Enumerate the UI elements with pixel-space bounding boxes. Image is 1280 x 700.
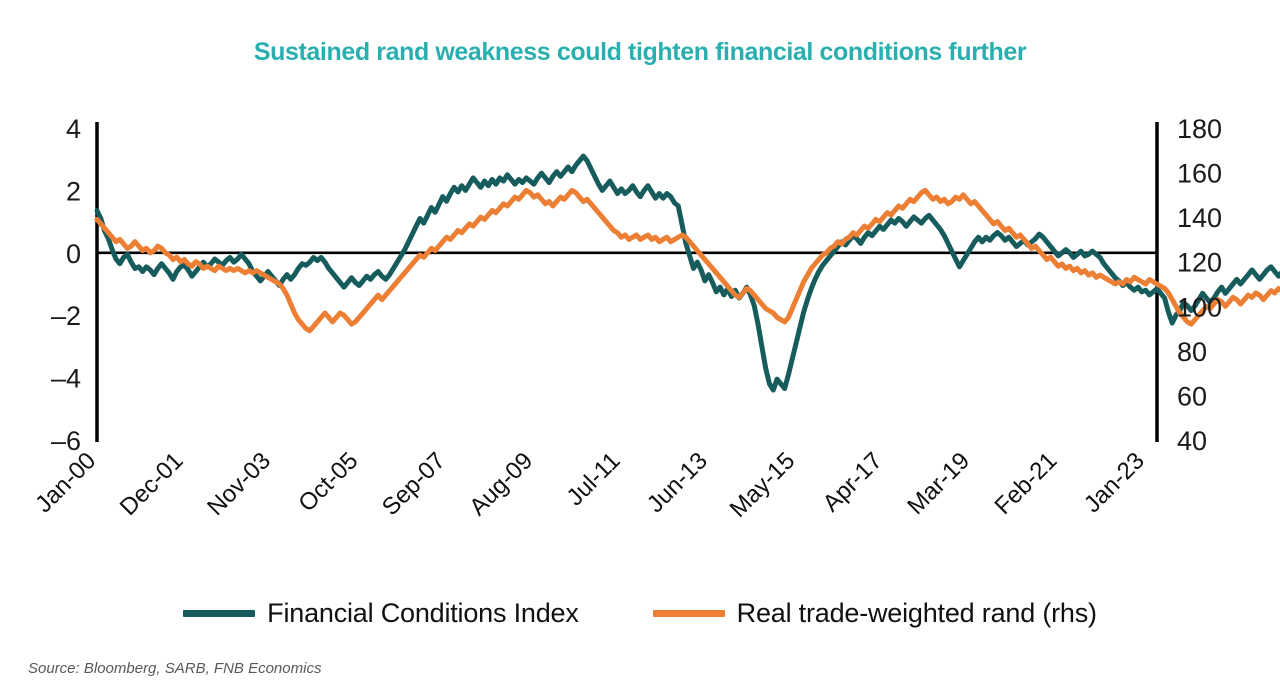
left-tick-neg2: –2 — [51, 301, 81, 331]
right-tick-140: 140 — [1177, 203, 1222, 233]
xtick-mar-19: Mar-19 — [902, 447, 975, 520]
chart-container: Sustained rand weakness could tighten fi… — [0, 0, 1280, 700]
left-axis-tick-labels: 420–2–4–6 — [51, 114, 81, 456]
right-tick-80: 80 — [1177, 337, 1207, 367]
xtick-jun-13: Jun-13 — [642, 447, 713, 518]
right-tick-40: 40 — [1177, 426, 1207, 456]
right-tick-60: 60 — [1177, 381, 1207, 411]
xtick-jan-23: Jan-23 — [1079, 447, 1150, 518]
right-axis-tick-labels: 180160140120100806040 — [1177, 114, 1222, 456]
legend-item-rand[interactable]: Real trade-weighted rand (rhs) — [653, 598, 1097, 629]
legend-swatch-rand — [653, 610, 725, 617]
xtick-dec-01: Dec-01 — [115, 447, 189, 521]
axes — [97, 122, 1157, 442]
legend-label-fci: Financial Conditions Index — [267, 598, 578, 629]
xtick-oct-05: Oct-05 — [293, 447, 363, 517]
legend-item-fci[interactable]: Financial Conditions Index — [183, 598, 578, 629]
left-tick-2: 2 — [66, 176, 81, 206]
xtick-jul-11: Jul-11 — [561, 447, 625, 511]
right-tick-160: 160 — [1177, 159, 1222, 189]
xtick-nov-03: Nov-03 — [202, 447, 276, 521]
right-tick-100: 100 — [1177, 292, 1222, 322]
chart-legend: Financial Conditions Index Real trade-we… — [0, 598, 1280, 629]
left-tick-0: 0 — [66, 239, 81, 269]
data-series — [97, 156, 1280, 390]
left-tick-neg4: –4 — [51, 364, 81, 394]
x-axis-tick-labels: Jan-00Dec-01Nov-03Oct-05Sep-07Aug-09Jul-… — [30, 447, 1150, 523]
xtick-jan-00: Jan-00 — [30, 447, 101, 518]
left-tick-4: 4 — [66, 114, 81, 144]
xtick-aug-09: Aug-09 — [464, 447, 538, 521]
right-tick-120: 120 — [1177, 248, 1222, 278]
source-note: Source: Bloomberg, SARB, FNB Economics — [28, 660, 321, 677]
legend-swatch-fci — [183, 610, 255, 617]
xtick-feb-21: Feb-21 — [990, 447, 1063, 520]
line-financial-conditions-index — [97, 156, 1280, 390]
legend-label-rand: Real trade-weighted rand (rhs) — [737, 598, 1097, 629]
right-tick-180: 180 — [1177, 114, 1222, 144]
chart-plot-area: 420–2–4–6 180160140120100806040 Jan-00De… — [0, 0, 1280, 600]
xtick-apr-17: Apr-17 — [818, 447, 888, 517]
xtick-sep-07: Sep-07 — [377, 447, 451, 521]
xtick-may-15: May-15 — [725, 447, 801, 523]
